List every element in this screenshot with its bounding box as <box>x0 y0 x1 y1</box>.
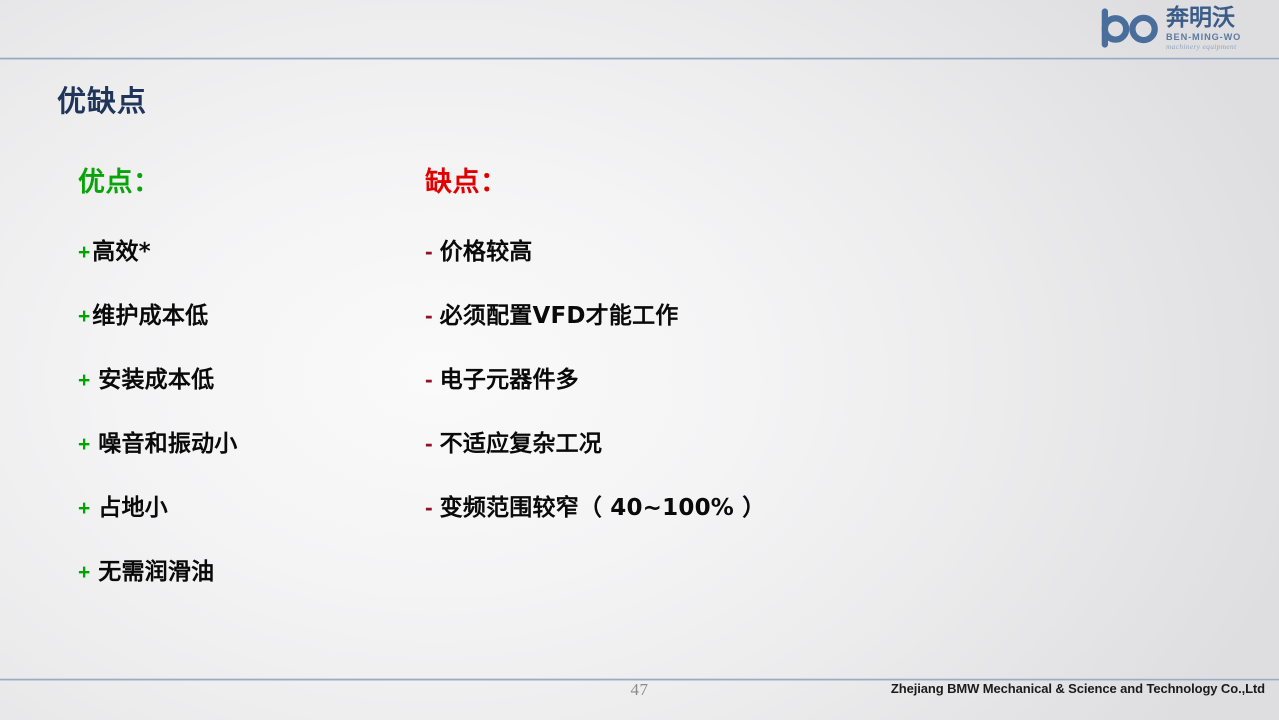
logo-wordmark: 奔明沃 BEN-MING-WO machinery equipment <box>1166 6 1241 51</box>
logo-chinese-name: 奔明沃 <box>1166 7 1241 31</box>
list-item-label: 变频范围较窄（ 40~100% ） <box>440 488 766 522</box>
page-title: 优缺点 <box>57 78 147 120</box>
plus-marker-icon: + <box>78 433 90 457</box>
list-item-label: 噪音和振动小 <box>98 424 237 458</box>
list-item: + 占地小 <box>78 488 408 552</box>
list-item: - 必须配置VFD才能工作 <box>425 296 1065 360</box>
footer-company-name: Zhejiang BMW Mechanical & Science and Te… <box>891 681 1265 696</box>
list-item: - 电子元器件多 <box>425 360 1065 424</box>
plus-marker-icon: + <box>78 561 90 585</box>
list-item: - 不适应复杂工况 <box>425 424 1065 488</box>
list-item: + 无需润滑油 <box>78 552 408 616</box>
dash-marker-icon: - <box>425 494 433 521</box>
list-item-label: 安装成本低 <box>98 360 214 394</box>
dash-marker-icon: - <box>425 302 433 329</box>
dash-marker-icon: - <box>425 238 433 265</box>
logo-romanized-name: BEN-MING-WO <box>1166 33 1241 42</box>
pros-list: + 高效* + 维护成本低 + 安装成本低 + 噪音和振动小 + 占地小 + 无… <box>78 232 408 616</box>
logo-tagline: machinery equipment <box>1166 43 1241 50</box>
list-item-label: 维护成本低 <box>92 296 208 330</box>
plus-marker-icon: + <box>78 241 90 265</box>
list-item-label: 价格较高 <box>440 232 533 266</box>
cons-list: - 价格较高 - 必须配置VFD才能工作 - 电子元器件多 - 不适应复杂工况 … <box>425 232 1065 552</box>
company-logo: 奔明沃 BEN-MING-WO machinery equipment <box>1101 3 1267 53</box>
list-item: + 高效* <box>78 232 408 296</box>
cons-heading: 缺点： <box>425 160 1065 194</box>
cons-column: 缺点： - 价格较高 - 必须配置VFD才能工作 - 电子元器件多 - 不适应复… <box>425 160 1065 552</box>
plus-marker-icon: + <box>78 369 90 393</box>
plus-marker-icon: + <box>78 497 90 521</box>
dash-marker-icon: - <box>425 430 433 457</box>
list-item-label: 不适应复杂工况 <box>440 424 602 458</box>
list-item-label: 无需润滑油 <box>98 552 214 586</box>
list-item-label: 占地小 <box>98 488 168 522</box>
pros-heading: 优点： <box>78 160 408 194</box>
slide-header: 奔明沃 BEN-MING-WO machinery equipment <box>0 0 1279 60</box>
list-item-label: 电子元器件多 <box>440 360 579 394</box>
header-divider <box>0 57 1279 60</box>
list-item: + 噪音和振动小 <box>78 424 408 488</box>
list-item: + 安装成本低 <box>78 360 408 424</box>
list-item: + 维护成本低 <box>78 296 408 360</box>
plus-marker-icon: + <box>78 305 90 329</box>
slide-canvas: 奔明沃 BEN-MING-WO machinery equipment 优缺点 … <box>0 0 1279 720</box>
dash-marker-icon: - <box>425 366 433 393</box>
list-item: - 变频范围较窄（ 40~100% ） <box>425 488 1065 552</box>
pros-column: 优点： + 高效* + 维护成本低 + 安装成本低 + 噪音和振动小 + 占地小 <box>78 160 408 616</box>
list-item-label: 高效* <box>92 232 151 266</box>
list-item: - 价格较高 <box>425 232 1065 296</box>
bmw-bo-monogram-icon <box>1101 8 1161 48</box>
list-item-label: 必须配置VFD才能工作 <box>440 296 679 330</box>
